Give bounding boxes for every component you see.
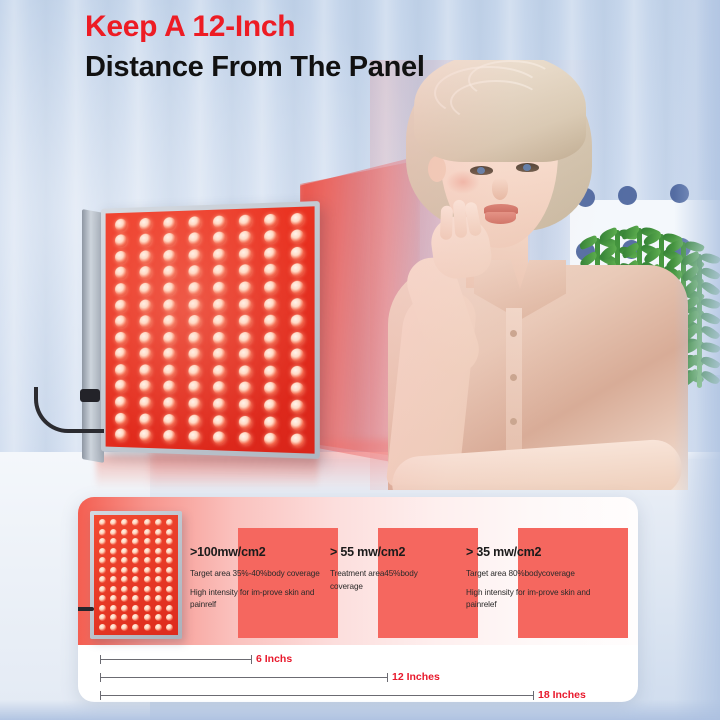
led-dot	[188, 398, 201, 411]
hair-front	[414, 60, 586, 162]
led-dot	[239, 365, 252, 378]
led-dot	[213, 348, 226, 361]
mini-led-dot	[132, 576, 139, 583]
mini-led-dot	[110, 519, 117, 526]
mini-led-dot	[121, 595, 128, 602]
mini-led-dot	[132, 624, 139, 631]
led-dot	[139, 380, 151, 393]
led-dot	[264, 213, 277, 227]
led-dot	[239, 265, 252, 278]
mini-led-dot	[121, 586, 128, 593]
led-dot	[139, 267, 151, 280]
mini-led-dot	[99, 519, 106, 526]
mini-led-dot	[132, 567, 139, 574]
intensity-column-3: > 35 mw/cm2 Target area 80%bodycoverage …	[466, 545, 606, 618]
mini-led-dot	[110, 586, 117, 593]
led-dot	[213, 215, 226, 228]
mini-led-dot	[166, 529, 173, 536]
panel-table-reflection	[96, 455, 318, 489]
led-dot	[115, 396, 127, 409]
mini-led-dot	[110, 548, 117, 555]
mini-led-dot	[110, 529, 117, 536]
led-dot	[213, 382, 226, 395]
led-dot	[163, 430, 176, 443]
mini-led-dot	[144, 567, 151, 574]
led-dot	[163, 299, 176, 312]
led-dot	[163, 397, 176, 410]
mini-led-dot	[144, 586, 151, 593]
led-dot	[163, 250, 176, 263]
intensity-desc-1-line-1: Target area 35%-40%body coverage	[190, 568, 320, 581]
mini-led-dot	[132, 586, 139, 593]
led-dot	[264, 416, 277, 430]
led-dot	[139, 413, 151, 426]
led-dot	[115, 299, 127, 312]
ruler-12-inch	[100, 677, 388, 678]
led-dot	[264, 433, 277, 447]
led-dot	[239, 349, 252, 362]
mini-led-dot	[155, 529, 162, 536]
headline-line-1: Keep A 12-Inch	[85, 8, 425, 46]
mini-led-dot	[166, 576, 173, 583]
mini-led-dot	[144, 538, 151, 545]
led-dot	[213, 332, 226, 345]
mini-led-dot	[121, 614, 128, 621]
led-dot	[213, 265, 226, 278]
led-dot	[163, 381, 176, 394]
led-dot	[139, 332, 151, 345]
led-dot	[239, 231, 252, 244]
mini-led-dot	[110, 557, 117, 564]
mini-led-grid	[97, 518, 175, 632]
mini-led-dot	[166, 614, 173, 621]
mini-led-dot	[155, 624, 162, 631]
led-dot	[264, 365, 277, 378]
led-dot	[139, 364, 151, 377]
led-dot	[188, 282, 201, 295]
mini-led-dot	[166, 624, 173, 631]
led-dot	[239, 332, 252, 345]
mini-led-dot	[132, 519, 139, 526]
led-dot	[264, 281, 277, 294]
mini-led-dot	[132, 557, 139, 564]
led-dot	[264, 399, 277, 413]
mini-led-dot	[155, 567, 162, 574]
led-dot	[290, 230, 303, 244]
led-dot	[115, 267, 127, 280]
led-dot	[264, 332, 277, 345]
mini-power-cord	[78, 607, 94, 611]
mini-led-dot	[144, 519, 151, 526]
led-dot	[239, 248, 252, 261]
mini-led-dot	[99, 538, 106, 545]
mini-led-dot	[144, 595, 151, 602]
mini-led-dot	[166, 538, 173, 545]
mini-led-dot	[121, 538, 128, 545]
mini-led-dot	[99, 567, 106, 574]
mini-led-dot	[166, 586, 173, 593]
led-dot	[188, 348, 201, 361]
led-dot	[290, 417, 303, 431]
panel-frame	[101, 201, 320, 459]
mini-led-dot	[121, 624, 128, 631]
led-dot	[213, 415, 226, 428]
mini-led-dot	[144, 614, 151, 621]
led-dot	[239, 315, 252, 328]
led-dot	[290, 332, 303, 345]
mini-led-dot	[110, 576, 117, 583]
mini-led-dot	[166, 595, 173, 602]
mini-led-dot	[99, 557, 106, 564]
mini-led-dot	[121, 519, 128, 526]
bottom-vignette	[0, 700, 720, 720]
led-dot	[264, 264, 277, 277]
mini-led-dot	[132, 548, 139, 555]
led-dot	[213, 298, 226, 311]
mini-led-dot	[132, 538, 139, 545]
mini-led-dot	[99, 576, 106, 583]
led-dot	[290, 400, 303, 414]
mini-led-dot	[121, 605, 128, 612]
intensity-desc-2-line-1: Treatment area45%body coverage	[330, 568, 450, 593]
led-dot	[115, 316, 127, 329]
led-dot	[264, 230, 277, 244]
led-dot	[290, 383, 303, 397]
mini-led-dot	[155, 557, 162, 564]
led-dot	[213, 315, 226, 328]
led-dot	[290, 213, 303, 227]
mini-led-dot	[99, 624, 106, 631]
led-dot	[139, 234, 151, 247]
led-dot	[264, 247, 277, 261]
mini-led-dot	[110, 538, 117, 545]
mini-led-dot	[155, 595, 162, 602]
led-dot	[213, 232, 226, 245]
led-dot	[264, 315, 277, 328]
ruler-label-12-inch: 12 Inches	[392, 671, 440, 683]
power-plug	[80, 389, 100, 402]
led-dot	[264, 298, 277, 311]
mini-led-dot	[144, 605, 151, 612]
led-dot	[290, 264, 303, 278]
model-photo	[370, 60, 720, 490]
product-marketing-image: Keep A 12-Inch Distance From The Panel	[0, 0, 720, 720]
mini-led-dot	[155, 605, 162, 612]
mini-led-dot	[144, 548, 151, 555]
led-dot	[163, 414, 176, 427]
led-dot	[115, 364, 127, 377]
led-dot	[115, 283, 127, 296]
mini-led-dot	[155, 538, 162, 545]
led-dot	[188, 266, 201, 279]
led-dot	[188, 249, 201, 262]
led-dot	[213, 365, 226, 378]
led-dot	[264, 349, 277, 362]
ruler-6-inch	[100, 659, 252, 660]
led-dot	[188, 365, 201, 378]
mini-led-panel	[90, 511, 182, 639]
led-dot	[290, 298, 303, 311]
led-dot	[213, 248, 226, 261]
headline-line-2: Distance From The Panel	[85, 48, 425, 86]
led-dot	[188, 299, 201, 312]
led-dot	[139, 397, 151, 410]
led-dot	[139, 429, 151, 442]
intensity-infographic-card: >100mw/cm2 Target area 35%-40%body cover…	[78, 497, 638, 702]
led-dot	[290, 281, 303, 294]
mini-led-dot	[144, 576, 151, 583]
mini-led-dot	[110, 605, 117, 612]
led-dot	[139, 348, 151, 361]
led-dot	[290, 434, 303, 448]
mini-led-dot	[132, 529, 139, 536]
led-dot	[139, 299, 151, 312]
led-dot	[188, 381, 201, 394]
led-dot	[163, 332, 176, 345]
mini-led-dot	[166, 557, 173, 564]
led-dot	[264, 382, 277, 395]
mini-led-dot	[166, 548, 173, 555]
mini-led-dot	[99, 595, 106, 602]
mini-led-dot	[121, 576, 128, 583]
led-dot	[188, 315, 201, 328]
mini-led-dot	[144, 529, 151, 536]
led-dot	[163, 233, 176, 246]
mini-led-dot	[110, 614, 117, 621]
mini-led-dot	[144, 624, 151, 631]
mini-led-dot	[155, 586, 162, 593]
led-dot	[163, 315, 176, 328]
led-dot	[188, 332, 201, 345]
led-dot	[213, 282, 226, 295]
led-grid	[109, 211, 310, 450]
headline-block: Keep A 12-Inch Distance From The Panel	[85, 8, 425, 86]
mini-led-dot	[132, 614, 139, 621]
led-dot	[239, 214, 252, 228]
mini-panel-face	[94, 515, 178, 635]
led-dot	[188, 414, 201, 427]
mini-led-dot	[121, 567, 128, 574]
led-panel	[96, 205, 318, 455]
led-dot	[239, 382, 252, 395]
ear	[428, 156, 446, 182]
led-dot	[239, 399, 252, 412]
intensity-desc-3-line-1: Target area 80%bodycoverage	[466, 568, 606, 581]
led-dot	[290, 349, 303, 362]
mini-led-dot	[155, 576, 162, 583]
led-dot	[239, 298, 252, 311]
led-dot	[115, 412, 127, 425]
mini-led-dot	[99, 605, 106, 612]
mini-led-dot	[132, 595, 139, 602]
intensity-column-1: >100mw/cm2 Target area 35%-40%body cover…	[190, 545, 320, 618]
mini-led-dot	[99, 614, 106, 621]
led-dot	[290, 247, 303, 261]
led-dot	[213, 431, 226, 444]
mini-led-dot	[110, 567, 117, 574]
led-dot	[139, 218, 151, 231]
mini-led-dot	[110, 595, 117, 602]
led-dot	[115, 348, 127, 361]
led-dot	[188, 233, 201, 246]
panel-face	[106, 206, 315, 453]
mini-led-dot	[99, 548, 106, 555]
led-dot	[163, 266, 176, 279]
mini-led-dot	[166, 519, 173, 526]
led-dot	[115, 218, 127, 231]
mini-led-dot	[155, 548, 162, 555]
led-dot	[239, 432, 252, 446]
led-dot	[239, 415, 252, 428]
led-dot	[188, 431, 201, 444]
led-dot	[115, 251, 127, 264]
led-dot	[115, 235, 127, 248]
led-dot	[139, 283, 151, 296]
led-dot	[188, 216, 201, 229]
mini-led-dot	[121, 557, 128, 564]
mini-led-dot	[166, 567, 173, 574]
mini-led-dot	[99, 529, 106, 536]
intensity-desc-1-line-2: High intensity for im-prove skin and pai…	[190, 587, 320, 612]
led-dot	[239, 281, 252, 294]
mini-led-dot	[110, 624, 117, 631]
led-dot	[139, 315, 151, 328]
led-dot	[290, 366, 303, 379]
intensity-value-3: > 35 mw/cm2	[466, 545, 606, 559]
led-dot	[115, 380, 127, 393]
mini-led-dot	[121, 529, 128, 536]
mini-led-dot	[121, 548, 128, 555]
mini-led-dot	[166, 605, 173, 612]
led-dot	[115, 429, 127, 442]
mini-led-dot	[155, 614, 162, 621]
mini-led-dot	[155, 519, 162, 526]
led-dot	[115, 332, 127, 345]
led-dot	[163, 364, 176, 377]
led-dot	[163, 217, 176, 230]
mini-led-dot	[132, 605, 139, 612]
ruler-18-inch	[100, 695, 534, 696]
intensity-column-2: > 55 mw/cm2 Treatment area45%body covera…	[330, 545, 450, 599]
led-dot	[213, 398, 226, 411]
led-dot	[290, 315, 303, 328]
mini-led-dot	[99, 586, 106, 593]
right-vignette	[674, 0, 720, 720]
led-dot	[139, 250, 151, 263]
intensity-value-2: > 55 mw/cm2	[330, 545, 450, 559]
ruler-label-6-inch: 6 Inchs	[256, 653, 292, 665]
led-dot	[163, 348, 176, 361]
intensity-value-1: >100mw/cm2	[190, 545, 320, 559]
polka-dot	[618, 186, 637, 205]
intensity-desc-3-line-2: High intensity for im-prove skin and pai…	[466, 587, 606, 612]
mini-led-dot	[144, 557, 151, 564]
led-dot	[163, 282, 176, 295]
